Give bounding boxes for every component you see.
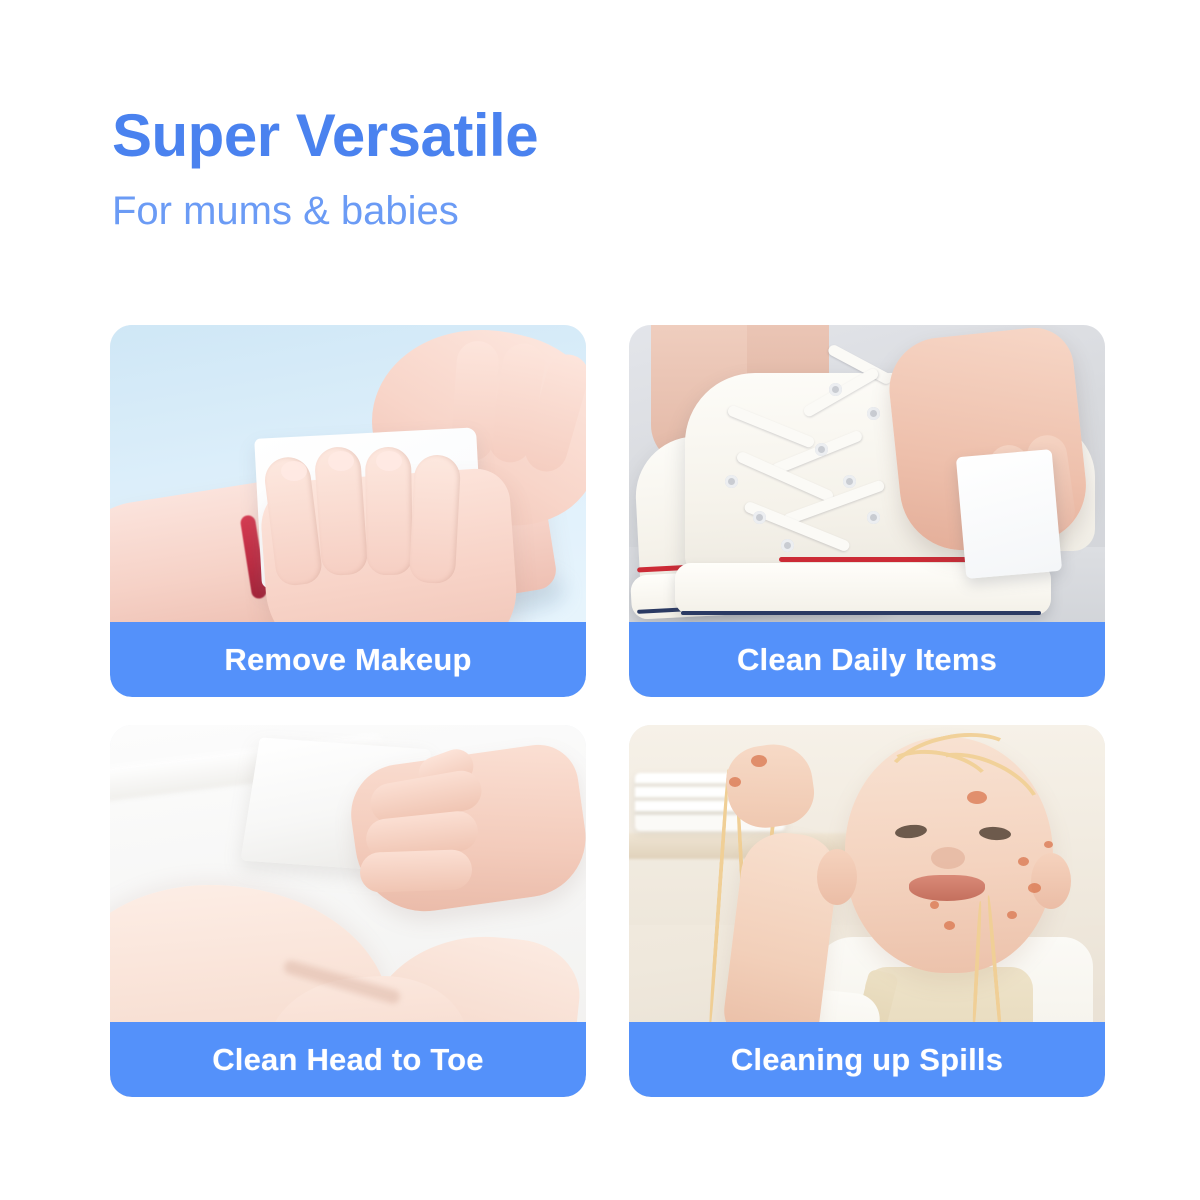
caption-clean-head-to-toe: Clean Head to Toe — [110, 1022, 586, 1097]
page-subtitle: For mums & babies — [112, 189, 1012, 233]
feature-card-remove-makeup[interactable]: Remove Makeup — [110, 325, 586, 697]
page-header: Super Versatile For mums & babies — [112, 104, 1012, 233]
feature-card-cleaning-up-spills[interactable]: Cleaning up Spills — [629, 725, 1105, 1097]
feature-card-clean-head-to-toe[interactable]: Clean Head to Toe — [110, 725, 586, 1097]
feature-card-clean-daily-items[interactable]: Clean Daily Items — [629, 325, 1105, 697]
caption-remove-makeup: Remove Makeup — [110, 622, 586, 697]
page-title: Super Versatile — [112, 104, 1012, 167]
caption-cleaning-up-spills: Cleaning up Spills — [629, 1022, 1105, 1097]
caption-clean-daily-items: Clean Daily Items — [629, 622, 1105, 697]
feature-card-grid: Remove Makeup — [110, 325, 1105, 1097]
